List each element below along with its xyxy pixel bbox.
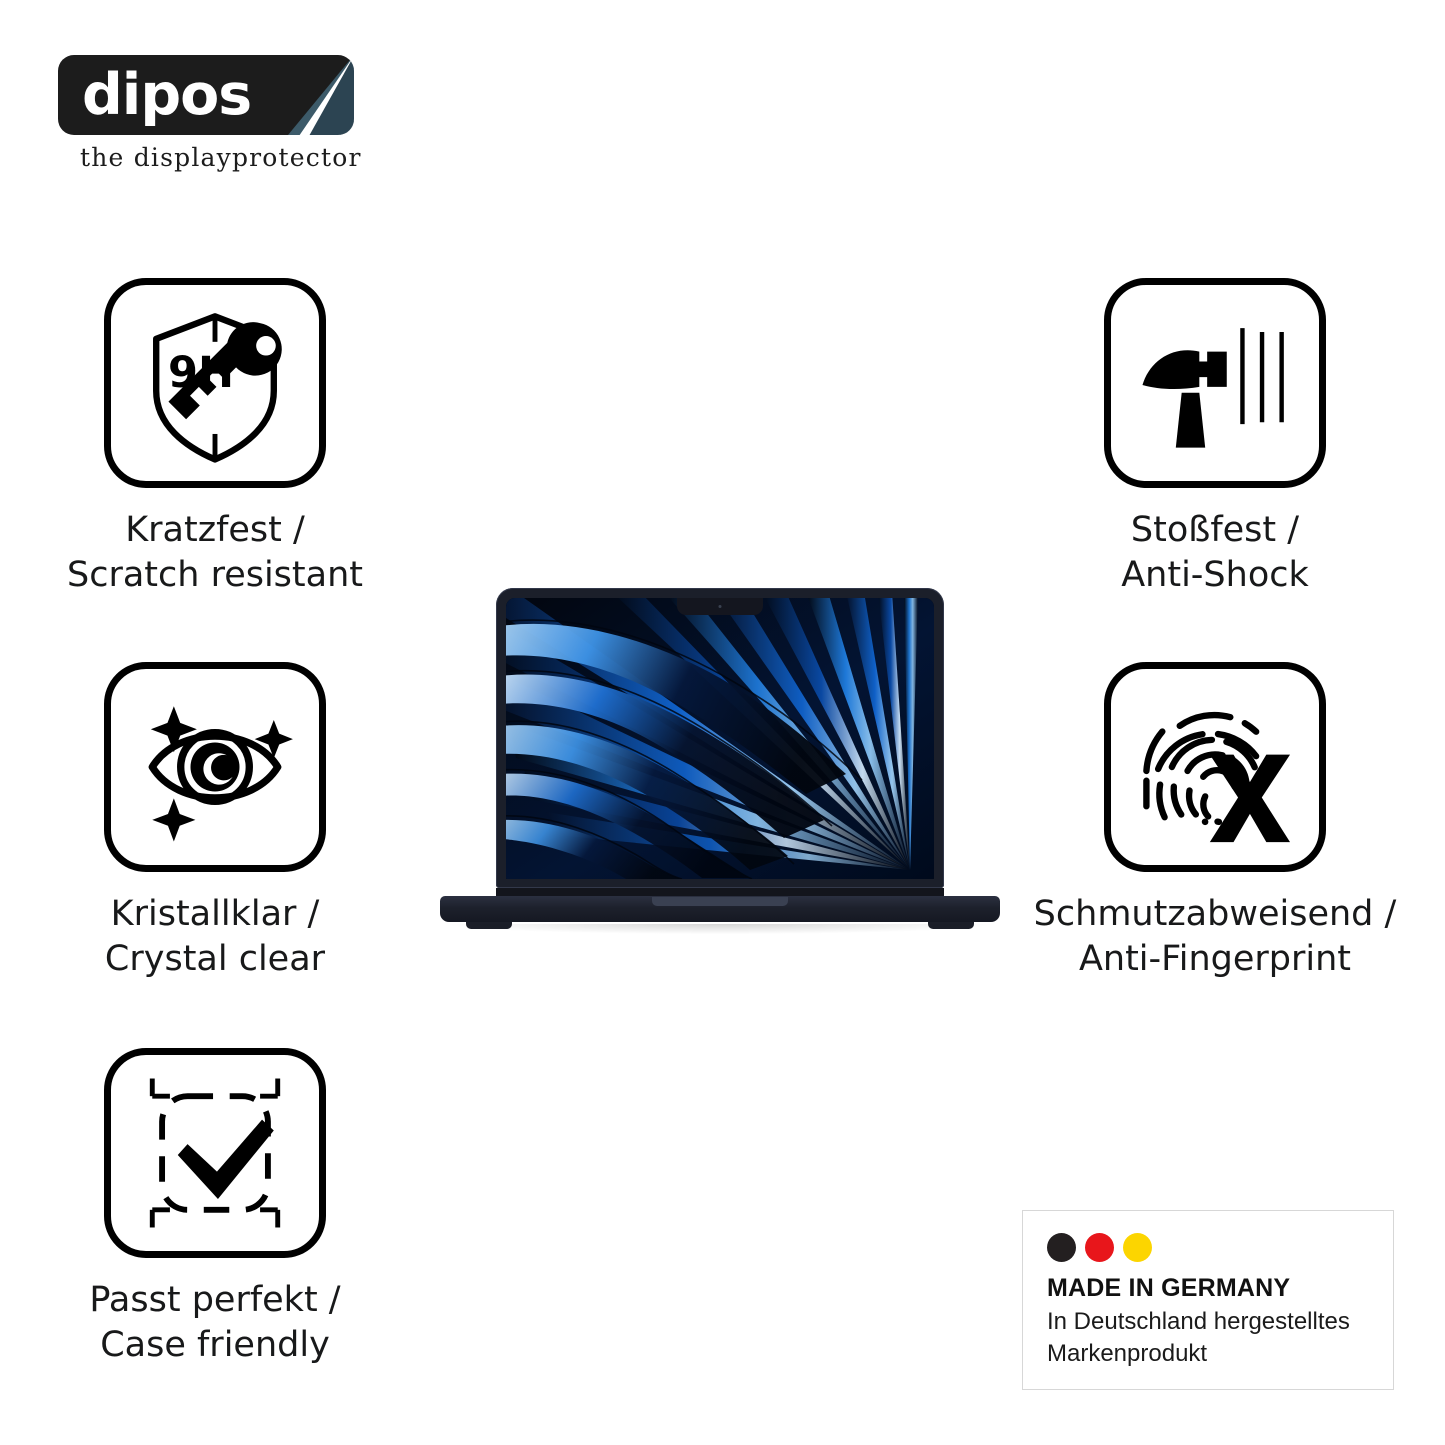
feature-anti-fingerprint: Schmutzabweisend / Anti-Fingerprint: [1005, 662, 1425, 982]
laptop-lid: [496, 588, 944, 888]
webcam-icon: [719, 605, 722, 608]
laptop-screen: [506, 598, 934, 879]
fingerprint-x-icon: [1104, 662, 1326, 872]
made-in-germany-subtitle: In Deutschland hergestelltes Markenprodu…: [1047, 1306, 1393, 1369]
feature-label: Schmutzabweisend / Anti-Fingerprint: [1005, 892, 1425, 982]
logo-page-curl-icon: [288, 55, 354, 135]
feature-label: Kratzfest / Scratch resistant: [5, 508, 425, 598]
shield-9h-key-icon: 9H: [104, 278, 326, 488]
laptop-front-lip: [652, 897, 788, 906]
made-in-germany-title: MADE IN GERMANY: [1047, 1274, 1393, 1303]
eye-sparkle-icon: [104, 662, 326, 872]
wallpaper-blue-fan: [506, 598, 934, 879]
product-image-macbook: [440, 588, 1000, 940]
brand-logo: dipos the displayprotector: [58, 55, 388, 175]
german-flag-dots: [1047, 1233, 1393, 1262]
feature-anti-shock: Stoßfest / Anti-Shock: [1005, 278, 1425, 598]
brand-tagline: the displayprotector: [80, 143, 380, 172]
hammer-impact-icon: [1104, 278, 1326, 488]
feature-crystal-clear: Kristallklar / Crystal clear: [5, 662, 425, 982]
flag-dot-red: [1085, 1233, 1114, 1262]
laptop-shadow: [450, 924, 990, 934]
product-feature-poster: dipos the displayprotector 9H Kratzfest …: [0, 0, 1445, 1445]
flag-dot-black: [1047, 1233, 1076, 1262]
checkmark-frame-icon: [104, 1048, 326, 1258]
feature-label: Stoßfest / Anti-Shock: [1005, 508, 1425, 598]
made-in-germany-badge: MADE IN GERMANY In Deutschland hergestel…: [1022, 1210, 1394, 1390]
feature-scratch-resistant: 9H Kratzfest / Scratch resistant: [5, 278, 425, 598]
feature-label: Passt perfekt / Case friendly: [5, 1278, 425, 1368]
feature-case-friendly: Passt perfekt / Case friendly: [5, 1048, 425, 1368]
feature-label: Kristallklar / Crystal clear: [5, 892, 425, 982]
flag-dot-gold: [1123, 1233, 1152, 1262]
